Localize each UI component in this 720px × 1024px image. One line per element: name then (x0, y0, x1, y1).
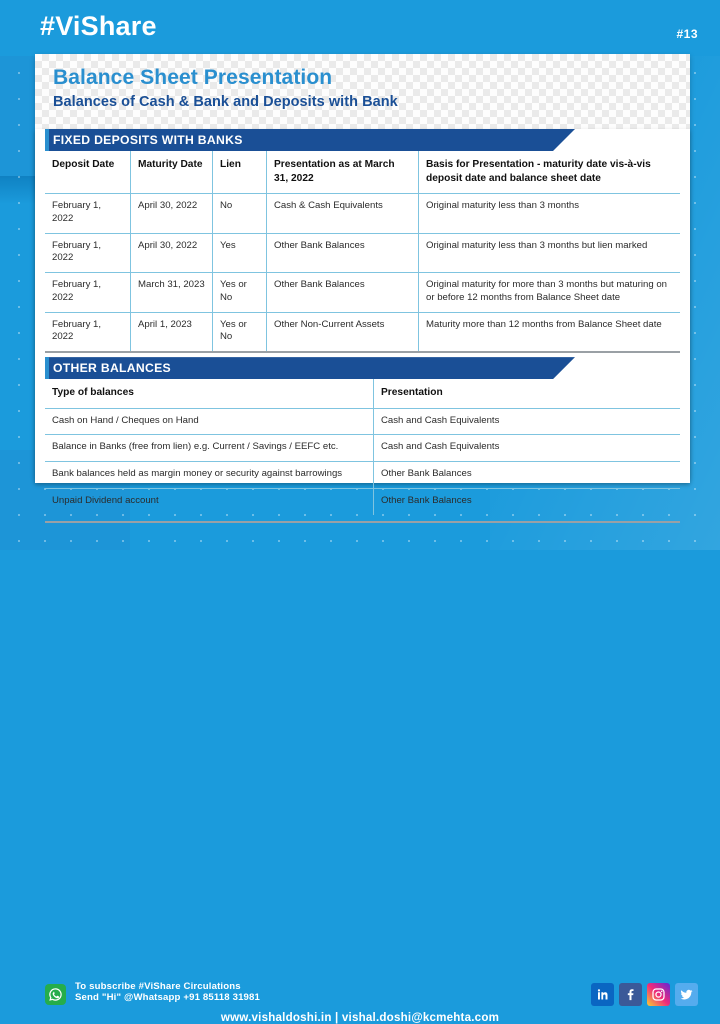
table-row: February 1, 2022 March 31, 2023 Yes or N… (45, 273, 680, 313)
section-divider-rule (45, 351, 680, 353)
table-row: Bank balances held as margin money or se… (45, 462, 680, 489)
section-header-accent (45, 129, 49, 151)
cell-type: Cash on Hand / Cheques on Hand (45, 408, 374, 435)
cell-presentation: Cash & Cash Equivalents (267, 194, 419, 234)
slide-title-wrap: Balance Sheet Presentation Balances of C… (53, 66, 398, 111)
cell-basis: Original maturity for more than 3 months… (419, 273, 681, 313)
section-header-accent (45, 357, 49, 379)
website-contact-line: www.vishaldoshi.in | vishal.doshi@kcmeht… (0, 1011, 720, 1024)
cell-lien: No (213, 194, 267, 234)
table-row: February 1, 2022 April 30, 2022 No Cash … (45, 194, 680, 234)
table-row: Cash on Hand / Cheques on Hand Cash and … (45, 408, 680, 435)
cell-deposit-date: February 1, 2022 (45, 312, 131, 351)
cell-basis: Maturity more than 12 months from Balanc… (419, 312, 681, 351)
section-header-label: OTHER BALANCES (45, 357, 575, 379)
instagram-icon[interactable] (647, 983, 670, 1006)
cell-presentation: Other Bank Balances (374, 462, 681, 489)
cell-presentation: Other Bank Balances (267, 273, 419, 313)
cell-deposit-date: February 1, 2022 (45, 273, 131, 313)
page-title: Balance Sheet Presentation (53, 66, 398, 89)
cell-maturity-date: March 31, 2023 (131, 273, 213, 313)
brand-title: #ViShare (40, 13, 157, 40)
cell-lien: Yes or No (213, 312, 267, 351)
cell-basis: Original maturity less than 3 months but… (419, 233, 681, 273)
cell-maturity-date: April 30, 2022 (131, 194, 213, 234)
linkedin-icon[interactable] (591, 983, 614, 1006)
table-row: February 1, 2022 April 1, 2023 Yes or No… (45, 312, 680, 351)
cell-presentation: Cash and Cash Equivalents (374, 408, 681, 435)
cell-type: Bank balances held as margin money or se… (45, 462, 374, 489)
cell-deposit-date: February 1, 2022 (45, 194, 131, 234)
column-header-maturity-date: Maturity Date (131, 151, 213, 194)
column-header-type-of-balances: Type of balances (45, 379, 374, 408)
cell-maturity-date: April 30, 2022 (131, 233, 213, 273)
column-header-basis: Basis for Presentation - maturity date v… (419, 151, 681, 194)
page-number: #13 (676, 27, 698, 41)
cell-lien: Yes (213, 233, 267, 273)
table-header-row: Deposit Date Maturity Date Lien Presenta… (45, 151, 680, 194)
cell-maturity-date: April 1, 2023 (131, 312, 213, 351)
cell-type: Balance in Banks (free from lien) e.g. C… (45, 435, 374, 462)
cell-presentation: Cash and Cash Equivalents (374, 435, 681, 462)
table-row: February 1, 2022 April 30, 2022 Yes Othe… (45, 233, 680, 273)
page-subtitle: Balances of Cash & Bank and Deposits wit… (53, 94, 398, 111)
cell-presentation: Other Non-Current Assets (267, 312, 419, 351)
fixed-deposits-table: Deposit Date Maturity Date Lien Presenta… (45, 151, 680, 351)
section-header-other-balances: OTHER BALANCES (35, 357, 690, 379)
social-links (591, 983, 698, 1006)
content-sheet: FIXED DEPOSITS WITH BANKS Deposit Date M… (35, 129, 690, 483)
twitter-icon[interactable] (675, 983, 698, 1006)
section-header-fixed-deposits: FIXED DEPOSITS WITH BANKS (35, 129, 690, 151)
table-header-row: Type of balances Presentation (45, 379, 680, 408)
subscribe-line-2: Send "Hi" @Whatsapp +91 85118 31981 (75, 992, 260, 1003)
table-row: Balance in Banks (free from lien) e.g. C… (45, 435, 680, 462)
column-header-presentation: Presentation (374, 379, 681, 408)
cell-deposit-date: February 1, 2022 (45, 233, 131, 273)
subscribe-line-1: To subscribe #ViShare Circulations (75, 981, 241, 992)
column-header-lien: Lien (213, 151, 267, 194)
top-bar: #ViShare #13 (0, 0, 720, 56)
column-header-deposit-date: Deposit Date (45, 151, 131, 194)
cell-lien: Yes or No (213, 273, 267, 313)
facebook-icon[interactable] (619, 983, 642, 1006)
section-header-label: FIXED DEPOSITS WITH BANKS (45, 129, 575, 151)
whatsapp-icon[interactable] (45, 984, 66, 1005)
column-header-presentation: Presentation as at March 31, 2022 (267, 151, 419, 194)
cell-presentation: Other Bank Balances (267, 233, 419, 273)
cell-basis: Original maturity less than 3 months (419, 194, 681, 234)
footer: To subscribe #ViShare Circulations Send … (0, 487, 720, 550)
